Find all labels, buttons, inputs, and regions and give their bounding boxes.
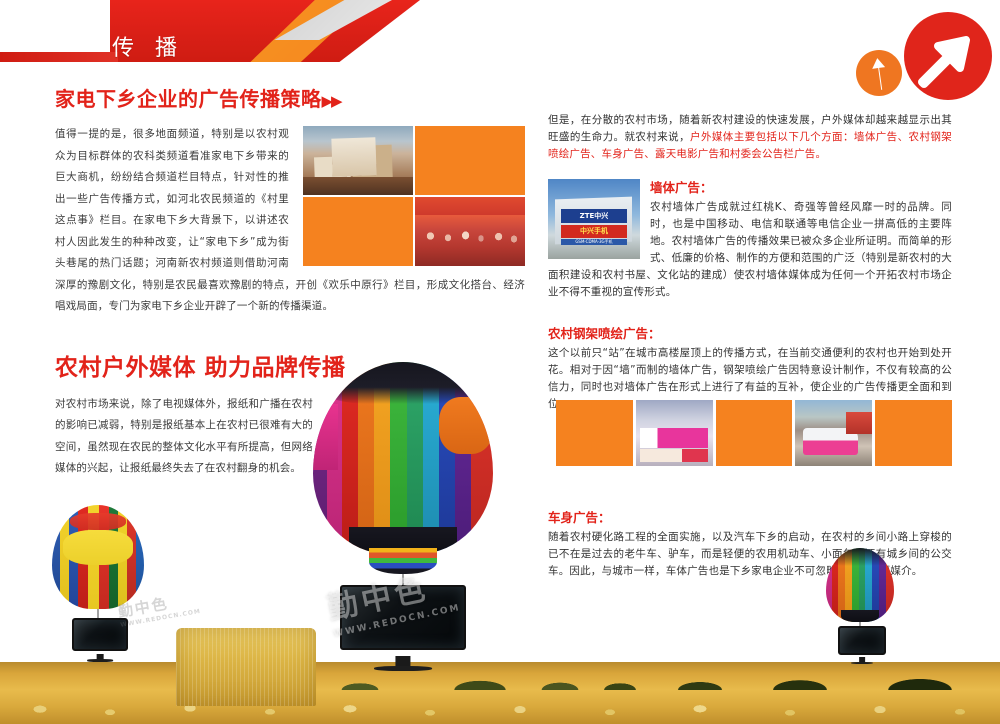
photo-rural-furniture-market (303, 126, 413, 195)
flat-screen-tv-right (838, 626, 886, 664)
orange-block-5 (875, 400, 952, 466)
orange-block-1 (415, 126, 525, 195)
field-treeline (0, 660, 1000, 690)
tv-base-right (851, 662, 873, 664)
left-paragraph-2: 对农村市场来说，除了电视媒体外，报纸和广播在农村的影响已减弱，特别是报纸基本上在… (55, 394, 313, 480)
photo-pink-advert-van (795, 400, 872, 466)
tv-base-left (87, 659, 113, 662)
up-arrow-icon (871, 57, 888, 90)
balloon-envelope-center (313, 362, 493, 554)
top-banner: 传 播 (0, 0, 1000, 68)
banner-title: 传 播 (112, 30, 184, 62)
photo-lg-steel-frame-billboard (636, 400, 713, 466)
left-heading-2-part1: 农村户外媒体 (55, 355, 196, 381)
orange-block-4 (716, 400, 793, 466)
orange-block-3 (556, 400, 633, 466)
tv-screen-center (340, 585, 466, 650)
left-figure-grid (303, 126, 525, 266)
left-heading: 家电下乡企业的广告传播策略▶▶ (55, 88, 525, 110)
banner-left-bar (0, 52, 118, 62)
arrow-up-right-icon (922, 40, 966, 84)
hay-bale (176, 628, 316, 706)
right-photo-strip (556, 400, 952, 466)
right-intro-paragraph: 但是，在分散的农村市场，随着新农村建设的快速发展，户外媒体却越来越显示出其旺盛的… (548, 112, 952, 163)
photo-wall-ad-billboard: ZTE中兴 中兴手机 GSM·CDMA·3G手机 (548, 179, 640, 259)
field-hay-bales (0, 696, 1000, 718)
tv-screen-right (838, 626, 886, 655)
section-wall-ads: ZTE中兴 中兴手机 GSM·CDMA·3G手机 墙体广告： 农村墙体广告成就过… (548, 177, 952, 301)
tv-neck-center (395, 656, 410, 666)
logo-group (854, 4, 994, 110)
brochure-page: 传 播 家电下乡企业的广告传播策略▶▶ 值得一提的是，很多地面频道，特别是以农村… (0, 0, 1000, 724)
left-heading-text: 家电下乡企业的广告传播策略 (55, 87, 322, 111)
billboard-line-1: ZTE中兴 (561, 209, 627, 223)
balloon-envelope-left (52, 505, 144, 609)
billboard-line-2: 中兴手机 (561, 225, 627, 239)
billboard-line-3: GSM·CDMA·3G手机 (561, 239, 627, 245)
orange-block-2 (303, 197, 413, 266)
photo-red-tent-crowd (415, 197, 525, 266)
section-title-steel-frame-ads: 农村钢架喷绘广告： (548, 323, 952, 342)
right-column: 但是，在分散的农村市场，随着新农村建设的快速发展，户外媒体却越来越显示出其旺盛的… (548, 112, 952, 580)
hot-air-balloon-center (313, 362, 493, 592)
heading-double-arrow-icon: ▶▶ (322, 92, 341, 110)
tv-base-center (374, 666, 432, 671)
flat-screen-tv-center (340, 585, 466, 671)
balloon-skirt-center (369, 548, 437, 574)
balloon-envelope-right (826, 548, 894, 622)
section-title-vehicle-ads: 车身广告： (548, 507, 952, 526)
